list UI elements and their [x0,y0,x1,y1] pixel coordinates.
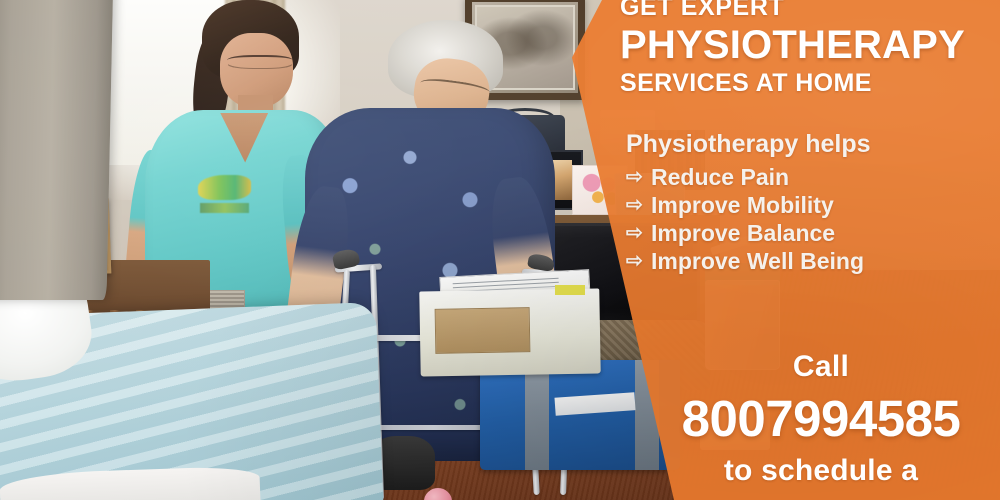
arrow-right-icon: ⇨ [626,251,648,271]
eyeglasses-icon [227,55,293,68]
benefit-label: Improve Balance [651,219,835,247]
caddy-cardboard [435,307,531,354]
tennis-ball [424,488,453,500]
promo-content: GET EXPERT PHYSIOTHERAPY SERVICES AT HOM… [620,0,1000,500]
bag-strap [525,360,549,470]
benefit-item: ⇨ Reduce Pain [626,163,1000,191]
benefit-label: Improve Well Being [651,247,864,275]
benefit-item: ⇨ Improve Well Being [626,247,1000,275]
benefit-label: Improve Mobility [651,191,834,219]
benefits-block: Physiotherapy helps ⇨ Reduce Pain ⇨ Impr… [626,130,1000,275]
arrow-right-icon: ⇨ [626,223,648,243]
sticky-note [555,285,585,295]
arrow-right-icon: ⇨ [626,195,648,215]
benefits-title: Physiotherapy helps [626,130,1000,159]
cta-tail-text: to schedule a [642,454,1000,488]
benefit-item: ⇨ Improve Balance [626,219,1000,247]
headline-main: PHYSIOTHERAPY [620,24,1000,66]
call-to-action: Call 8007994585 to schedule a [620,350,1000,488]
headline-eyebrow: GET EXPERT [620,0,1000,20]
cta-call-label: Call [642,350,1000,384]
lampshade [0,0,113,300]
physiotherapy-ad-banner: GET EXPERT PHYSIOTHERAPY SERVICES AT HOM… [0,0,1000,500]
benefit-item: ⇨ Improve Mobility [626,191,1000,219]
arrow-right-icon: ⇨ [626,167,648,187]
headline-sub: SERVICES AT HOME [620,71,1000,96]
headline-block: GET EXPERT PHYSIOTHERAPY SERVICES AT HOM… [620,0,1000,96]
cta-phone-number[interactable]: 8007994585 [642,389,1000,448]
scrub-logo-text [200,203,248,213]
benefits-list: ⇨ Reduce Pain ⇨ Improve Mobility ⇨ Impro… [626,163,1000,275]
scrub-logo [198,175,251,200]
benefit-label: Reduce Pain [651,163,789,191]
